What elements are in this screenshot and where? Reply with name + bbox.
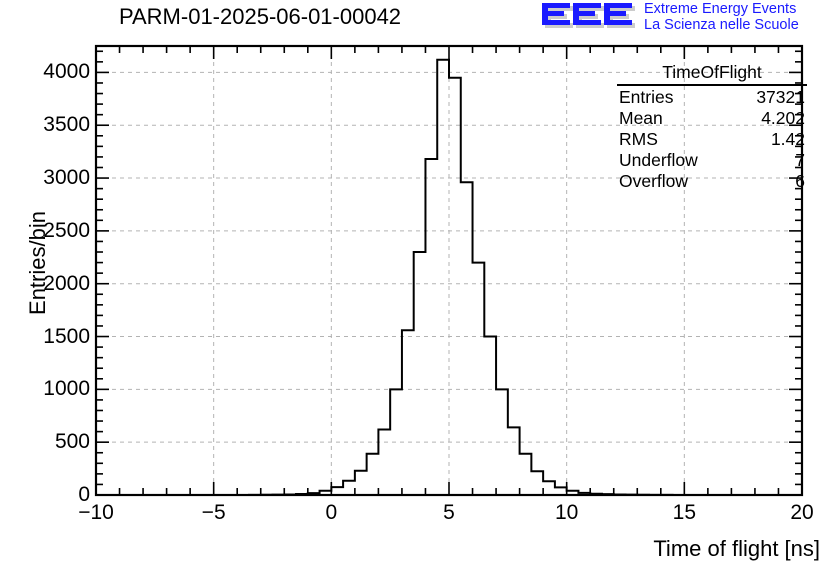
stats-row: Underflow7 — [617, 150, 807, 171]
stats-title: TimeOfFlight — [617, 62, 807, 86]
x-axis-tick-label: 0 — [325, 501, 337, 525]
x-axis-tick-label: −5 — [202, 501, 226, 525]
y-axis-tick-label: 1500 — [4, 325, 90, 349]
y-axis-tick-label: 500 — [4, 430, 90, 454]
stats-value: 7 — [795, 150, 805, 171]
y-axis-tick-label: 0 — [4, 483, 90, 507]
stats-rows: Entries37321Mean4.202RMS1.42Underflow7Ov… — [617, 87, 807, 192]
stats-value: 37321 — [756, 87, 805, 108]
stats-key: Underflow — [619, 150, 698, 171]
y-axis-tick-label: 2000 — [4, 272, 90, 296]
stats-value: 6 — [795, 171, 805, 192]
stats-row: Entries37321 — [617, 87, 807, 108]
stats-row: Overflow6 — [617, 171, 807, 192]
stats-value: 4.202 — [761, 108, 805, 129]
stats-value: 1.42 — [771, 129, 805, 150]
y-axis-tick-label: 2500 — [4, 219, 90, 243]
x-axis-tick-label: 15 — [673, 501, 696, 525]
stats-key: RMS — [619, 129, 658, 150]
chart-canvas: PARM-01-2025-06-01-00042 — [0, 0, 836, 572]
stats-key: Mean — [619, 108, 663, 129]
stats-row: RMS1.42 — [617, 129, 807, 150]
x-axis-tick-label: 10 — [555, 501, 578, 525]
stats-key: Overflow — [619, 171, 688, 192]
y-axis-tick-label: 4000 — [4, 60, 90, 84]
stats-box: TimeOfFlight Entries37321Mean4.202RMS1.4… — [617, 62, 807, 192]
y-axis-tick-label: 3500 — [4, 113, 90, 137]
y-axis-tick-label: 3000 — [4, 166, 90, 190]
x-axis-tick-label: 20 — [790, 501, 813, 525]
stats-row: Mean4.202 — [617, 108, 807, 129]
y-axis-tick-label: 1000 — [4, 377, 90, 401]
x-axis-tick-label: 5 — [443, 501, 455, 525]
stats-key: Entries — [619, 87, 673, 108]
